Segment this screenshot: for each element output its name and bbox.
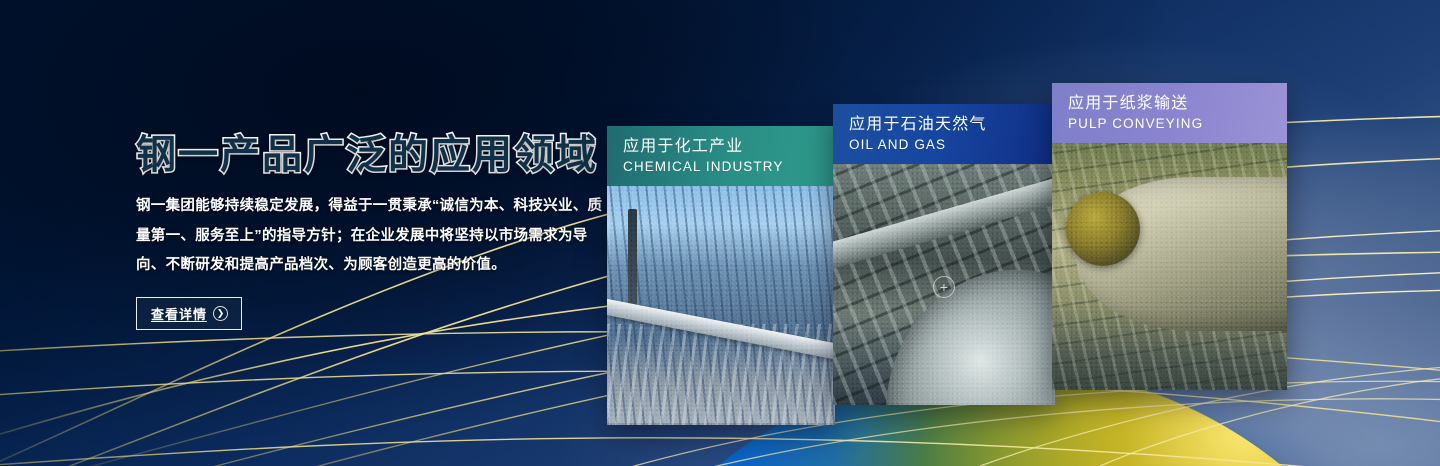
- card-chemical-industry[interactable]: 应用于化工产业 CHEMICAL INDUSTRY: [607, 126, 835, 425]
- card-title-en: CHEMICAL INDUSTRY: [623, 158, 819, 176]
- card-pulp-conveying[interactable]: 应用于纸浆输送 PULP CONVEYING: [1052, 83, 1287, 390]
- card-title-cn: 应用于石油天然气: [849, 115, 1039, 135]
- hero-description: 钢一集团能够持续稳定发展，得益于一贯秉承“诚信为本、科技兴业、质量第一、服务至上…: [136, 192, 606, 281]
- card-title-cn: 应用于纸浆输送: [1068, 94, 1271, 114]
- card-title-en: OIL AND GAS: [849, 136, 1039, 154]
- card-caption: 应用于化工产业 CHEMICAL INDUSTRY: [607, 126, 835, 186]
- card-caption: 应用于纸浆输送 PULP CONVEYING: [1052, 83, 1287, 143]
- page-title: 钢一产品广泛的应用领域: [136, 133, 606, 178]
- card-oil-and-gas[interactable]: 应用于石油天然气 OIL AND GAS +: [833, 104, 1055, 405]
- hero-copy: 钢一产品广泛的应用领域 钢一集团能够持续稳定发展，得益于一贯秉承“诚信为本、科技…: [136, 133, 606, 330]
- card-title-cn: 应用于化工产业: [623, 137, 819, 157]
- card-photo-chemical-plant: [607, 186, 835, 425]
- hero-banner: 钢一产品广泛的应用领域 钢一集团能够持续稳定发展，得益于一贯秉承“诚信为本、科技…: [0, 0, 1440, 466]
- card-caption: 应用于石油天然气 OIL AND GAS: [833, 104, 1055, 164]
- arrow-right-circle-icon: ❯: [213, 306, 228, 321]
- card-title-en: PULP CONVEYING: [1068, 115, 1271, 133]
- view-details-label: 查看详情: [151, 304, 207, 323]
- view-details-button[interactable]: 查看详情 ❯: [136, 297, 242, 330]
- card-photo-oil-and-gas: +: [833, 164, 1055, 405]
- card-photo-pulp-roller: [1052, 143, 1287, 390]
